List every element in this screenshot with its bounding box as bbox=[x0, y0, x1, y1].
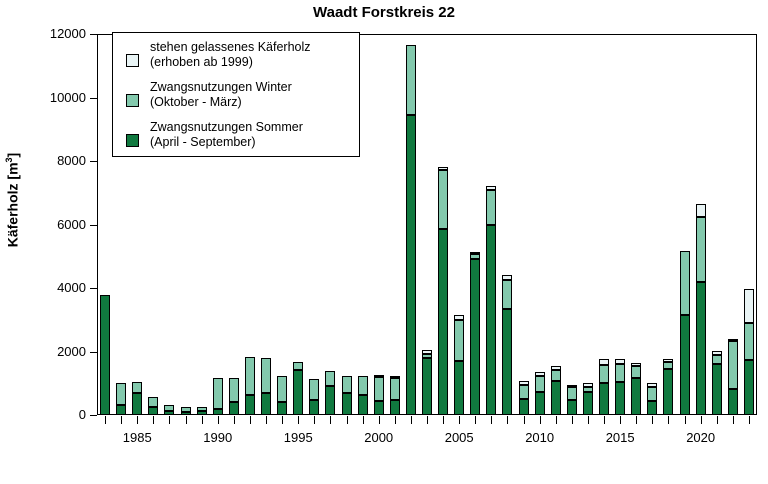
bar-segment-winter bbox=[567, 387, 577, 400]
x-tick-mark bbox=[395, 416, 396, 424]
legend-label-line1: stehen gelassenes Käferholz bbox=[150, 40, 311, 55]
bar-group[interactable] bbox=[567, 34, 577, 415]
y-tick-mark bbox=[90, 34, 97, 35]
chart-figure: Waadt Forstkreis 22 Käferholz [m3] 02000… bbox=[0, 0, 768, 484]
bar-segment-winter bbox=[696, 217, 706, 282]
legend-label-line1: Zwangsnutzungen Sommer bbox=[150, 120, 303, 135]
bar-segment-sommer bbox=[744, 360, 754, 415]
bar-segment-sommer bbox=[406, 115, 416, 415]
bar-segment-winter bbox=[502, 280, 512, 309]
bar-segment-sommer bbox=[696, 282, 706, 415]
bar-group[interactable] bbox=[535, 34, 545, 415]
legend-item-sommer: Zwangsnutzungen Sommer(April - September… bbox=[113, 123, 359, 163]
bar-segment-stehen bbox=[470, 252, 480, 254]
bar-group[interactable] bbox=[583, 34, 593, 415]
bar-segment-winter bbox=[293, 362, 303, 370]
bar-segment-sommer bbox=[535, 392, 545, 415]
bar-segment-sommer bbox=[728, 389, 738, 415]
bar-segment-sommer bbox=[197, 411, 207, 415]
bar-segment-stehen bbox=[744, 289, 754, 323]
y-tick-mark bbox=[90, 161, 97, 162]
bar-segment-sommer bbox=[277, 402, 287, 415]
bar-segment-winter bbox=[615, 364, 625, 382]
bar-segment-stehen bbox=[454, 315, 464, 320]
x-tick-mark bbox=[717, 416, 718, 424]
y-axis-label-exponent: 3 bbox=[4, 157, 14, 162]
legend-label-winter: Zwangsnutzungen Winter(Oktober - März) bbox=[150, 80, 292, 110]
legend-label-stehen: stehen gelassenes Käferholz(erhoben ab 1… bbox=[150, 40, 311, 70]
bar-segment-winter bbox=[164, 405, 174, 411]
bar-segment-winter bbox=[599, 365, 609, 383]
bar-segment-sommer bbox=[680, 315, 690, 415]
x-tick-mark bbox=[379, 416, 380, 424]
x-tick-mark bbox=[733, 416, 734, 424]
bar-segment-winter bbox=[261, 358, 271, 394]
bar-segment-sommer bbox=[181, 412, 191, 415]
bar-segment-sommer bbox=[342, 393, 352, 415]
x-tick-mark bbox=[266, 416, 267, 424]
x-tick-mark bbox=[137, 416, 138, 424]
bar-segment-sommer bbox=[100, 295, 110, 415]
bar-group[interactable] bbox=[374, 34, 384, 415]
legend-item-stehen: stehen gelassenes Käferholz(erhoben ab 1… bbox=[113, 43, 359, 83]
bar-group[interactable] bbox=[615, 34, 625, 415]
bar-segment-winter bbox=[422, 354, 432, 357]
y-tick-mark bbox=[90, 225, 97, 226]
bar-segment-winter bbox=[358, 376, 368, 396]
bar-segment-stehen bbox=[599, 359, 609, 365]
x-tick-mark bbox=[620, 416, 621, 424]
bar-segment-stehen bbox=[551, 366, 561, 370]
bar-segment-sommer bbox=[229, 402, 239, 415]
bar-segment-stehen bbox=[502, 275, 512, 281]
x-tick-mark bbox=[491, 416, 492, 424]
bar-segment-stehen bbox=[631, 363, 641, 366]
bar-segment-stehen bbox=[696, 204, 706, 217]
bar-segment-winter bbox=[728, 341, 738, 389]
bar-group[interactable] bbox=[519, 34, 529, 415]
x-tick-mark bbox=[507, 416, 508, 424]
bar-segment-sommer bbox=[454, 361, 464, 415]
x-tick-label: 1985 bbox=[107, 430, 167, 445]
bar-segment-sommer bbox=[599, 383, 609, 415]
bar-segment-sommer bbox=[486, 225, 496, 416]
bar-group[interactable] bbox=[551, 34, 561, 415]
x-tick-mark bbox=[234, 416, 235, 424]
page-title: Waadt Forstkreis 22 bbox=[0, 4, 768, 21]
bar-group[interactable] bbox=[696, 34, 706, 415]
x-tick-mark bbox=[105, 416, 106, 424]
chart-legend: stehen gelassenes Käferholz(erhoben ab 1… bbox=[112, 32, 360, 157]
bar-segment-stehen bbox=[663, 359, 673, 362]
bar-segment-winter bbox=[342, 376, 352, 393]
y-tick-mark bbox=[90, 288, 97, 289]
bar-segment-stehen bbox=[567, 385, 577, 388]
bar-segment-sommer bbox=[358, 395, 368, 415]
bar-segment-sommer bbox=[261, 393, 271, 415]
bar-group[interactable] bbox=[486, 34, 496, 415]
bar-group[interactable] bbox=[470, 34, 480, 415]
bar-segment-sommer bbox=[390, 400, 400, 415]
bar-segment-sommer bbox=[164, 411, 174, 415]
bar-segment-winter bbox=[374, 377, 384, 401]
legend-item-winter: Zwangsnutzungen Winter(Oktober - März) bbox=[113, 83, 359, 123]
legend-label-line1: Zwangsnutzungen Winter bbox=[150, 80, 292, 95]
x-tick-mark bbox=[314, 416, 315, 424]
x-tick-label: 1995 bbox=[268, 430, 328, 445]
bar-group[interactable] bbox=[406, 34, 416, 415]
bar-segment-stehen bbox=[535, 372, 545, 375]
bar-segment-winter bbox=[132, 382, 142, 392]
y-tick-label: 0 bbox=[28, 408, 86, 421]
y-tick-mark bbox=[90, 98, 97, 99]
x-tick-mark bbox=[524, 416, 525, 424]
y-tick-label: 2000 bbox=[28, 345, 86, 358]
x-tick-mark bbox=[475, 416, 476, 424]
x-tick-mark bbox=[668, 416, 669, 424]
y-axis-label: Käferholz [m3] bbox=[4, 100, 21, 300]
bar-segment-sommer bbox=[132, 393, 142, 415]
bar-segment-sommer bbox=[438, 229, 448, 415]
x-tick-mark bbox=[330, 416, 331, 424]
bar-segment-winter bbox=[486, 190, 496, 225]
y-tick-label: 6000 bbox=[28, 218, 86, 231]
bar-group[interactable] bbox=[100, 34, 110, 415]
bar-segment-sommer bbox=[245, 395, 255, 415]
bar-segment-winter bbox=[519, 385, 529, 400]
y-axis-label-base: Käferholz [m bbox=[5, 162, 21, 247]
y-tick-label: 8000 bbox=[28, 154, 86, 167]
bar-segment-sommer bbox=[583, 392, 593, 415]
x-tick-mark bbox=[250, 416, 251, 424]
bar-segment-sommer bbox=[325, 386, 335, 415]
bar-segment-stehen bbox=[728, 339, 738, 342]
bar-segment-stehen bbox=[712, 351, 722, 354]
bar-segment-winter bbox=[213, 378, 223, 409]
bar-group[interactable] bbox=[454, 34, 464, 415]
y-tick-label: 12000 bbox=[28, 27, 86, 40]
bar-segment-sommer bbox=[116, 405, 126, 415]
legend-swatch-sommer bbox=[126, 134, 139, 147]
x-tick-mark bbox=[298, 416, 299, 424]
legend-label-sommer: Zwangsnutzungen Sommer(April - September… bbox=[150, 120, 303, 150]
bar-segment-stehen bbox=[615, 359, 625, 363]
bar-segment-winter bbox=[712, 355, 722, 365]
x-tick-label: 2020 bbox=[671, 430, 731, 445]
legend-label-line2: (erhoben ab 1999) bbox=[150, 55, 311, 70]
x-tick-mark bbox=[556, 416, 557, 424]
y-tick-mark bbox=[90, 415, 97, 416]
bar-segment-sommer bbox=[422, 358, 432, 415]
x-tick-mark bbox=[218, 416, 219, 424]
x-tick-mark bbox=[202, 416, 203, 424]
bar-segment-stehen bbox=[647, 383, 657, 387]
bar-segment-winter bbox=[535, 376, 545, 392]
bar-segment-stehen bbox=[583, 383, 593, 387]
x-tick-mark bbox=[459, 416, 460, 424]
x-tick-mark bbox=[411, 416, 412, 424]
bar-segment-winter bbox=[197, 407, 207, 411]
bar-segment-winter bbox=[744, 323, 754, 360]
legend-swatch-winter bbox=[126, 94, 139, 107]
bar-group[interactable] bbox=[438, 34, 448, 415]
bar-segment-sommer bbox=[148, 407, 158, 415]
bar-group[interactable] bbox=[502, 34, 512, 415]
bar-segment-sommer bbox=[519, 399, 529, 415]
x-tick-mark bbox=[588, 416, 589, 424]
bar-group[interactable] bbox=[390, 34, 400, 415]
legend-label-line2: (Oktober - März) bbox=[150, 95, 292, 110]
bar-segment-sommer bbox=[631, 378, 641, 415]
x-tick-mark bbox=[153, 416, 154, 424]
bar-segment-sommer bbox=[647, 401, 657, 415]
x-tick-mark bbox=[540, 416, 541, 424]
x-tick-mark bbox=[749, 416, 750, 424]
bar-segment-sommer bbox=[567, 400, 577, 415]
x-tick-label: 2005 bbox=[429, 430, 489, 445]
y-tick-mark bbox=[90, 352, 97, 353]
x-tick-label: 2000 bbox=[349, 430, 409, 445]
bar-group[interactable] bbox=[647, 34, 657, 415]
x-tick-mark bbox=[169, 416, 170, 424]
bar-segment-sommer bbox=[470, 259, 480, 415]
bar-segment-winter bbox=[390, 378, 400, 400]
bar-segment-winter bbox=[325, 371, 335, 387]
x-tick-mark bbox=[443, 416, 444, 424]
bar-segment-winter bbox=[551, 370, 561, 380]
bar-segment-winter bbox=[245, 357, 255, 395]
bar-segment-sommer bbox=[293, 370, 303, 415]
x-tick-mark bbox=[636, 416, 637, 424]
x-tick-mark bbox=[427, 416, 428, 424]
y-tick-label: 4000 bbox=[28, 281, 86, 294]
bar-segment-winter bbox=[181, 407, 191, 411]
bar-segment-winter bbox=[663, 362, 673, 369]
y-tick-label: 10000 bbox=[28, 91, 86, 104]
x-tick-label: 2010 bbox=[510, 430, 570, 445]
bar-segment-winter bbox=[229, 378, 239, 402]
bar-segment-winter bbox=[309, 379, 319, 399]
legend-swatch-stehen bbox=[126, 54, 139, 67]
bar-segment-sommer bbox=[712, 364, 722, 415]
bar-segment-sommer bbox=[663, 369, 673, 415]
x-tick-label: 1990 bbox=[188, 430, 248, 445]
bar-segment-winter bbox=[470, 254, 480, 259]
y-axis-label-close: ] bbox=[5, 153, 21, 158]
legend-label-line2: (April - September) bbox=[150, 135, 303, 150]
bar-group[interactable] bbox=[744, 34, 754, 415]
bar-segment-winter bbox=[116, 383, 126, 406]
bar-segment-winter bbox=[438, 170, 448, 229]
bar-group[interactable] bbox=[631, 34, 641, 415]
bar-segment-stehen bbox=[422, 350, 432, 354]
bar-segment-winter bbox=[148, 397, 158, 407]
bar-group[interactable] bbox=[712, 34, 722, 415]
x-tick-label: 2015 bbox=[590, 430, 650, 445]
x-tick-mark bbox=[604, 416, 605, 424]
x-tick-mark bbox=[572, 416, 573, 424]
bar-segment-stehen bbox=[374, 375, 384, 377]
x-tick-mark bbox=[652, 416, 653, 424]
bar-segment-winter bbox=[647, 387, 657, 401]
bar-segment-winter bbox=[631, 366, 641, 378]
bar-segment-stehen bbox=[486, 186, 496, 190]
bar-group[interactable] bbox=[599, 34, 609, 415]
bar-segment-winter bbox=[406, 45, 416, 115]
bar-group[interactable] bbox=[422, 34, 432, 415]
bar-segment-stehen bbox=[519, 381, 529, 385]
bar-segment-sommer bbox=[551, 381, 561, 415]
x-tick-mark bbox=[363, 416, 364, 424]
bar-segment-stehen bbox=[390, 376, 400, 378]
x-tick-mark bbox=[701, 416, 702, 424]
bar-segment-sommer bbox=[309, 400, 319, 415]
bar-segment-winter bbox=[583, 387, 593, 392]
bar-segment-sommer bbox=[502, 309, 512, 415]
x-tick-mark bbox=[282, 416, 283, 424]
bar-segment-winter bbox=[454, 320, 464, 361]
bar-segment-sommer bbox=[374, 401, 384, 415]
bar-group[interactable] bbox=[680, 34, 690, 415]
bar-group[interactable] bbox=[728, 34, 738, 415]
x-tick-mark bbox=[685, 416, 686, 424]
bar-group[interactable] bbox=[663, 34, 673, 415]
x-tick-mark bbox=[347, 416, 348, 424]
x-tick-mark bbox=[186, 416, 187, 424]
bar-segment-winter bbox=[277, 376, 287, 403]
bar-segment-sommer bbox=[615, 382, 625, 415]
bar-segment-sommer bbox=[213, 409, 223, 415]
x-tick-mark bbox=[121, 416, 122, 424]
bar-segment-stehen bbox=[438, 167, 448, 170]
bar-segment-winter bbox=[680, 251, 690, 316]
